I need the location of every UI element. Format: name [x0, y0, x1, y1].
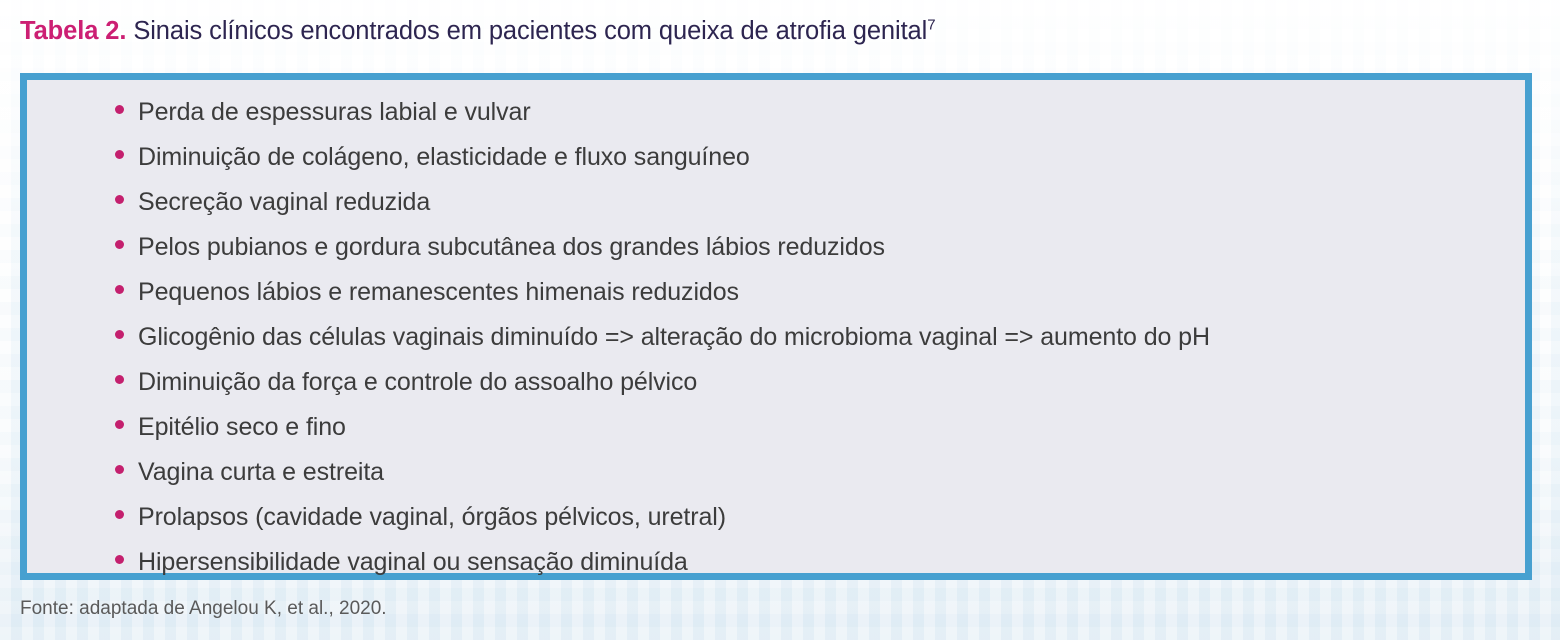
list-item-label: Perda de espessuras labial e vulvar — [138, 98, 531, 127]
table-caption: Tabela 2. Sinais clínicos encontrados em… — [20, 14, 935, 48]
bullet-icon — [115, 510, 124, 519]
clinical-signs-list: Perda de espessuras labial e vulvar Dimi… — [27, 80, 1525, 593]
list-item: Pequenos lábios e remanescentes himenais… — [27, 278, 1525, 323]
list-item: Pelos pubianos e gordura subcutânea dos … — [27, 233, 1525, 278]
table-caption-label: Tabela 2. — [20, 17, 126, 45]
bullet-icon — [115, 555, 124, 564]
source-note: Fonte: adaptada de Angelou K, et al., 20… — [20, 598, 387, 620]
list-item: Diminuição de colágeno, elasticidade e f… — [27, 143, 1525, 188]
list-item-label: Epitélio seco e fino — [138, 413, 346, 442]
list-item: Secreção vaginal reduzida — [27, 188, 1525, 233]
list-item: Glicogênio das células vaginais diminuíd… — [27, 323, 1525, 368]
bullet-icon — [115, 465, 124, 474]
bullet-icon — [115, 330, 124, 339]
list-item: Epitélio seco e fino — [27, 413, 1525, 458]
bullet-icon — [115, 285, 124, 294]
list-item-label: Prolapsos (cavidade vaginal, órgãos pélv… — [138, 503, 726, 532]
list-item-label: Glicogênio das células vaginais diminuíd… — [138, 323, 1210, 352]
list-item-label: Secreção vaginal reduzida — [138, 188, 430, 217]
list-item: Prolapsos (cavidade vaginal, órgãos pélv… — [27, 503, 1525, 548]
bullet-icon — [115, 240, 124, 249]
bullet-icon — [115, 420, 124, 429]
list-item: Diminuição da força e controle do assoal… — [27, 368, 1525, 413]
table-caption-superscript: 7 — [927, 17, 935, 34]
list-item: Perda de espessuras labial e vulvar — [27, 98, 1525, 143]
bullet-icon — [115, 375, 124, 384]
bullet-icon — [115, 150, 124, 159]
table-caption-text: Sinais clínicos encontrados em pacientes… — [126, 17, 927, 45]
bullet-icon — [115, 195, 124, 204]
list-item-label: Hipersensibilidade vaginal ou sensação d… — [138, 548, 688, 577]
clinical-signs-table: Perda de espessuras labial e vulvar Dimi… — [20, 73, 1532, 580]
list-item: Vagina curta e estreita — [27, 458, 1525, 503]
list-item-label: Vagina curta e estreita — [138, 458, 384, 487]
list-item: Hipersensibilidade vaginal ou sensação d… — [27, 548, 1525, 593]
list-item-label: Diminuição da força e controle do assoal… — [138, 368, 697, 397]
list-item-label: Diminuição de colágeno, elasticidade e f… — [138, 143, 750, 172]
figure-container: Tabela 2. Sinais clínicos encontrados em… — [0, 0, 1560, 640]
bullet-icon — [115, 105, 124, 114]
list-item-label: Pelos pubianos e gordura subcutânea dos … — [138, 233, 885, 262]
list-item-label: Pequenos lábios e remanescentes himenais… — [138, 278, 739, 307]
